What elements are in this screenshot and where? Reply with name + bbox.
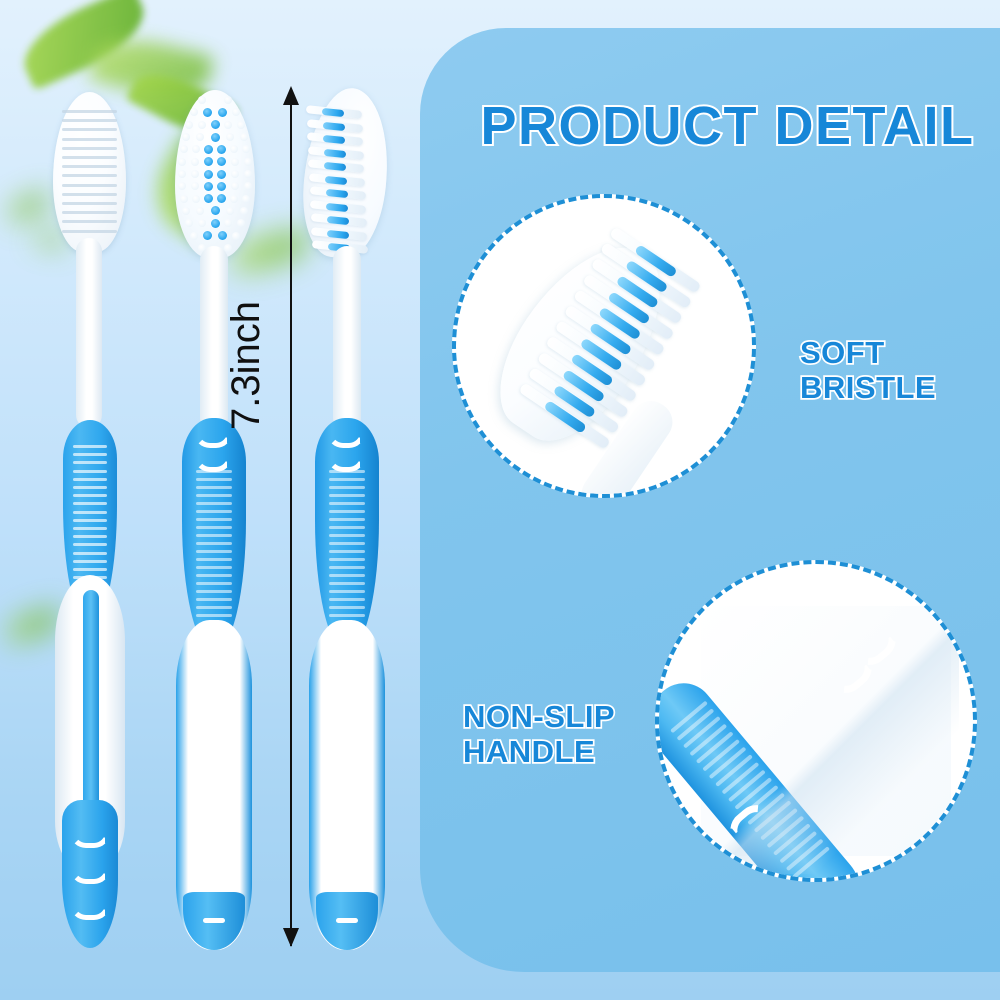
- bristle-tuft: [211, 219, 220, 228]
- bristle-tuft: [182, 207, 190, 215]
- head-ridges: [58, 110, 121, 240]
- bristle-tuft: [190, 232, 198, 240]
- bristle-tuft: [211, 133, 220, 142]
- bristle-tuft: [217, 170, 226, 179]
- bristle-tuft: [182, 133, 190, 141]
- non-slip-handle-callout-circle: [655, 560, 977, 882]
- bristle-tuft: [198, 121, 206, 129]
- bristle-tuft: [211, 206, 220, 215]
- callout-label-non-slip-handle: NON-SLIP HANDLE: [463, 700, 615, 769]
- bristle-tuft: [237, 121, 245, 129]
- bristle-tuft: [231, 182, 239, 190]
- bristle-tuft: [180, 145, 188, 153]
- bristle-tuft: [244, 182, 252, 190]
- bristle-tuft: [226, 133, 234, 141]
- arrow-down-icon: [283, 928, 299, 947]
- bristle-tuft: [204, 182, 213, 191]
- brush-neck: [333, 246, 361, 432]
- bristle-tuft: [226, 207, 234, 215]
- bristle-tuft: [232, 232, 240, 240]
- grip-ribs: [329, 470, 365, 622]
- handle-highlight: [699, 624, 959, 874]
- brush-neck: [76, 238, 102, 428]
- soft-bristle-callout-circle: [452, 194, 756, 498]
- bristle-tuft: [217, 182, 226, 191]
- bristle-tuft: [231, 158, 239, 166]
- bristle-tuft: [218, 231, 227, 240]
- callout-label-soft-bristle: SOFT BRISTLE: [800, 336, 936, 405]
- handle-closeup-image: [659, 564, 973, 878]
- brush-head-front: [175, 90, 255, 258]
- measurement-value: 7.3inch: [224, 301, 269, 430]
- bristle-tuft: [211, 120, 220, 129]
- bristle-tuft: [224, 121, 232, 129]
- handle-end-slot: [336, 918, 358, 923]
- measure-line: [290, 92, 292, 946]
- bristle-tuft: [217, 194, 226, 203]
- bristle-tuft: [244, 170, 252, 178]
- bristle-tuft: [242, 195, 250, 203]
- bristle-tuft: [231, 170, 239, 178]
- bristle-tuft: [230, 195, 238, 203]
- leaf-decoration: [6, 190, 53, 224]
- grip-ribs: [196, 470, 232, 622]
- bristle-tuft: [180, 195, 188, 203]
- bristle-tuft: [204, 170, 213, 179]
- bristle-tuft: [178, 170, 186, 178]
- bristle-tuft: [217, 145, 226, 154]
- bristle-tuft: [192, 195, 200, 203]
- bristle-closeup-image: [456, 198, 752, 494]
- bristle-tufts: [469, 194, 756, 498]
- handle-end-slot: [203, 918, 225, 923]
- grip-ribs: [73, 445, 107, 593]
- bristle-tuft: [244, 158, 252, 166]
- bristle-tuft: [224, 96, 232, 104]
- bristle-tuft: [185, 121, 193, 129]
- page-title: PRODUCT DETAIL: [455, 95, 1000, 157]
- bristle-tuft: [218, 108, 227, 117]
